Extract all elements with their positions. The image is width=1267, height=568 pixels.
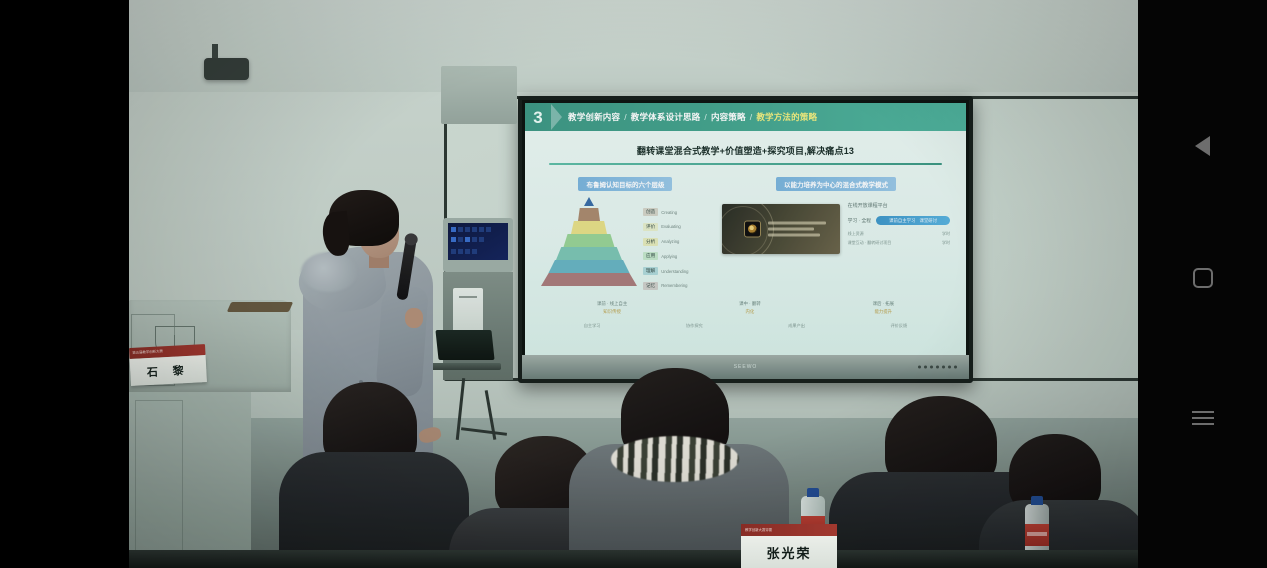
pyramid-tier-3: [564, 234, 615, 247]
ceiling-speaker-icon: [204, 58, 249, 80]
lectern: 第五届教学创新大赛 石 黎: [129, 300, 291, 568]
video-player-frame: 3 教学创新内容 / 教学体系设计思路 / 内容策略 / 教学方法的策略: [0, 0, 1267, 568]
stat-sub: 评价反馈: [890, 323, 907, 329]
presenter-hood-fur: [301, 252, 357, 292]
nameplate-audience-card: 张光荣: [741, 536, 837, 568]
pyramid-tier-2: [571, 221, 607, 234]
scarf: [611, 436, 739, 482]
console-top: [441, 66, 517, 124]
interactive-display[interactable]: 3 教学创新内容 / 教学体系设计思路 / 内容策略 / 教学方法的策略: [518, 96, 973, 383]
stat-item: 课中 · 翻转 内化: [739, 301, 760, 315]
section-number: 3: [525, 109, 551, 126]
back-triangle-icon[interactable]: [1183, 126, 1223, 166]
right-section-tag: 以能力培养为中心的混合式教学模式: [776, 177, 896, 191]
pyramid-legend-item: 分析 Analyzing: [643, 238, 688, 246]
presenter-arm: [375, 285, 429, 398]
pyramid-tier-4: [556, 247, 622, 260]
right-row-label: 学习 · 全程: [848, 217, 871, 224]
line-left: 线上资源: [848, 231, 864, 237]
pyramid-tier-1: [578, 208, 600, 221]
breadcrumb-separator: /: [624, 112, 627, 122]
nameplate-audience: 教学创新大赛评委 张光荣: [741, 524, 837, 568]
breadcrumb: 教学创新内容 / 教学体系设计思路 / 内容策略 / 教学方法的策略: [568, 111, 817, 123]
chevron-right-icon: [551, 104, 562, 130]
slide-header: 3 教学创新内容 / 教学体系设计思路 / 内容策略 / 教学方法的策略: [525, 103, 966, 131]
pyramid-legend-note: Analyzing: [661, 239, 679, 244]
hamburger-menu-icon[interactable]: [1183, 398, 1223, 438]
pyramid-legend-label: 创造: [643, 208, 658, 216]
presenter-hair-side: [321, 211, 351, 257]
stat-value: 知识传授: [597, 309, 627, 315]
pyramid-legend-note: Understanding: [661, 269, 688, 274]
nameplate-audience-banner: 教学创新大赛评委: [741, 524, 837, 536]
right-lines: 线上资源 学时 课堂互动 · 翻转研讨项目 学时: [848, 231, 950, 246]
pill-item-2: 课堂研讨: [919, 218, 937, 224]
pyramid-tier-6: [541, 273, 637, 286]
right-pill[interactable]: 课前自主学习 课堂研讨: [876, 216, 950, 225]
breadcrumb-item-4-active[interactable]: 教学方法的策略: [756, 111, 817, 123]
pill-item-1: 课前自主学习: [889, 218, 915, 224]
media-title-bars: [768, 222, 826, 237]
bloom-pyramid-icon: [541, 208, 637, 290]
pyramid-tier-5: [549, 260, 630, 273]
presentation-slide: 3 教学创新内容 / 教学体系设计思路 / 内容策略 / 教学方法的策略: [525, 103, 966, 355]
presenter-hand: [405, 308, 423, 328]
title-divider: [549, 163, 942, 165]
breadcrumb-item-2[interactable]: 教学体系设计思路: [631, 111, 701, 123]
display-brand: SEEWO: [734, 364, 758, 370]
nameplate-name: 石 黎: [147, 361, 191, 379]
letterbox-left: [0, 0, 129, 568]
media-card[interactable]: [722, 204, 840, 254]
control-monitor-screen: [448, 223, 508, 260]
bezel-control-buttons[interactable]: [918, 366, 957, 369]
pyramid-legend-label: 评价: [643, 223, 658, 231]
pyramid-legend-item: 应用 Applying: [643, 252, 688, 260]
table-edge: [129, 550, 1138, 568]
display-screen[interactable]: 3 教学创新内容 / 教学体系设计思路 / 内容策略 / 教学方法的策略: [525, 103, 966, 355]
line-left: 课堂互动 · 翻转研讨项目: [848, 240, 892, 246]
pyramid-legend-note: Creating: [661, 210, 677, 215]
home-square-icon[interactable]: [1183, 258, 1223, 298]
pyramid-legend-item: 记忆 Remembering: [643, 282, 688, 290]
nameplate-front: 第五届教学创新大赛 石 黎: [129, 344, 207, 386]
stat-sub: 成果产出: [788, 323, 805, 329]
pyramid-legend-note: Evaluating: [661, 224, 681, 229]
stat-key: 课中 · 翻转: [739, 301, 760, 307]
audience-member: [279, 388, 469, 568]
stat-value: 能力提升: [873, 309, 894, 315]
pyramid-legend-item: 理解 Understanding: [643, 267, 688, 275]
stat-key: 课前 · 线上自主: [597, 301, 627, 307]
pyramid-legend-label: 应用: [643, 252, 658, 260]
breadcrumb-item-1[interactable]: 教学创新内容: [568, 111, 620, 123]
navigation-rail: [1138, 0, 1267, 568]
pyramid-legend-note: Remembering: [661, 283, 687, 288]
breadcrumb-separator: /: [704, 112, 707, 122]
right-pill-row: 学习 · 全程 课前自主学习 课堂研讨: [848, 216, 950, 225]
pyramid-legend-item: 评价 Evaluating: [643, 223, 688, 231]
slide-stats: 课前 · 线上自主 知识传授 课中 · 翻转 内化 课后 · 拓展 能力提升: [541, 301, 950, 329]
stat-item: 课前 · 线上自主 知识传授: [597, 301, 627, 315]
pyramid-legend-note: Applying: [661, 254, 677, 259]
video-surface[interactable]: 3 教学创新内容 / 教学体系设计思路 / 内容策略 / 教学方法的策略: [129, 0, 1138, 568]
nameplate-card: 石 黎: [130, 355, 207, 386]
right-info-block: 在线开放课程平台 学习 · 全程 课前自主学习 课堂研讨: [848, 202, 950, 254]
control-monitor[interactable]: [443, 218, 513, 272]
stat-item: 课后 · 拓展 能力提升: [873, 301, 894, 315]
nameplate-audience-name: 张光荣: [766, 543, 811, 562]
line-right: 学时: [942, 231, 950, 237]
stat-value: 内化: [739, 309, 760, 315]
right-column: 以能力培养为中心的混合式教学模式: [722, 174, 950, 290]
left-column: 布鲁姆认知目标的六个层级: [541, 174, 710, 290]
right-caption: 在线开放课程平台: [848, 202, 950, 209]
display-bezel: SEEWO: [522, 355, 969, 379]
left-section-tag: 布鲁姆认知目标的六个层级: [578, 177, 672, 191]
pyramid-legend-label: 记忆: [643, 282, 658, 290]
pyramid-legend: 创造 Creating 评价 Evaluating 分析: [643, 206, 688, 290]
slide-title: 翻转课堂混合式教学+价值塑造+探究项目,解决痛点13: [525, 144, 966, 157]
pyramid-pointer-icon: [584, 197, 594, 206]
lectern-body: [129, 392, 251, 568]
pyramid-legend-label: 理解: [643, 267, 658, 275]
breadcrumb-separator: /: [750, 112, 753, 122]
breadcrumb-item-3[interactable]: 内容策略: [711, 111, 746, 123]
stat-sub: 协作探究: [686, 323, 703, 329]
ceiling: [129, 0, 1138, 92]
pyramid-legend-item: 创造 Creating: [643, 208, 688, 216]
lectern-wood-lip: [227, 302, 293, 312]
slide-columns: 布鲁姆认知目标的六个层级: [525, 174, 966, 290]
bloom-pyramid-block: 创造 Creating 评价 Evaluating 分析: [541, 206, 710, 290]
nameplate-audience-banner-text: 教学创新大赛评委: [741, 524, 837, 536]
stat-sub: 自主学习: [584, 323, 601, 329]
stat-key: 课后 · 拓展: [873, 301, 894, 307]
right-line-item: 线上资源 学时: [848, 231, 950, 237]
right-line-item: 课堂互动 · 翻转研讨项目 学时: [848, 240, 950, 246]
pyramid-legend-label: 分析: [643, 238, 658, 246]
line-right: 学时: [942, 240, 950, 246]
media-eye-icon: [744, 221, 761, 238]
